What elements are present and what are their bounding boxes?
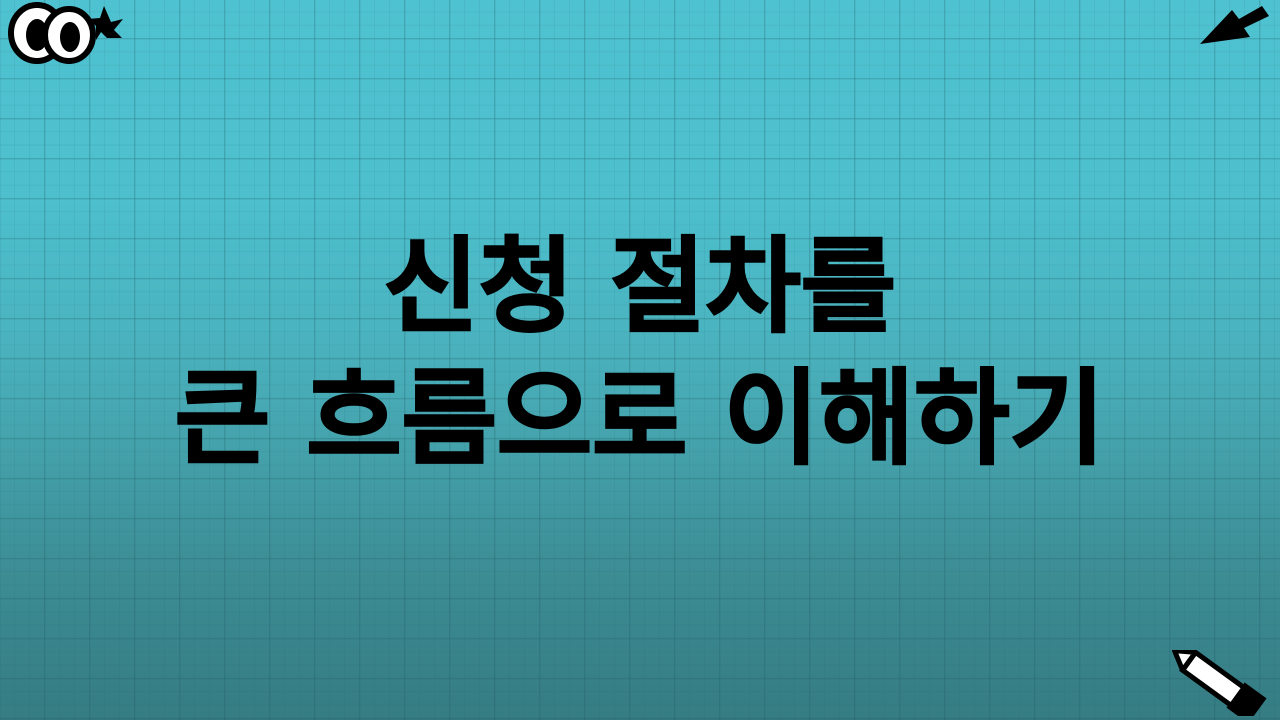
eyes-icon: [4, 2, 124, 66]
page-title: 신청 절차를 큰 흐름으로 이해하기: [0, 222, 1280, 486]
pencil-icon: [1166, 650, 1272, 716]
arrow-icon: [1198, 4, 1272, 52]
title-line-1: 신청 절차를: [24, 222, 1256, 354]
slide-canvas: 신청 절차를 큰 흐름으로 이해하기: [0, 0, 1280, 720]
title-line-2: 큰 흐름으로 이해하기: [24, 354, 1256, 486]
